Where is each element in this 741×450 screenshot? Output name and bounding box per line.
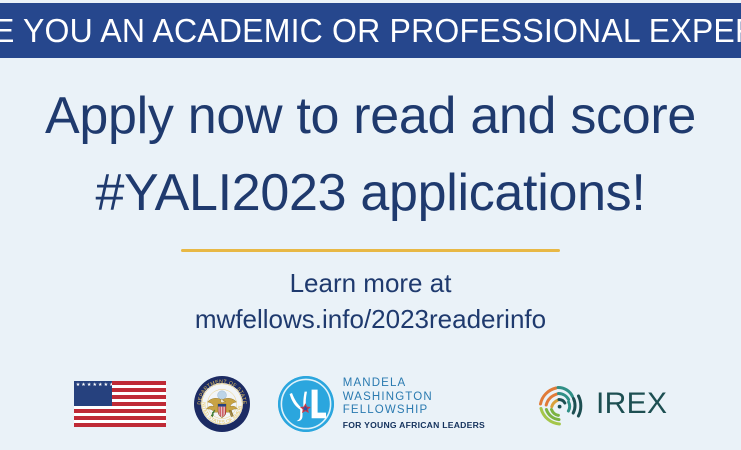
flag-stars: ★★★★★★★★★★★★★★★★★★★★★★★★★★★★★★★★★★★★★★★★… xyxy=(74,381,112,406)
learn-more-url: mwfellows.info/2023readerinfo xyxy=(0,301,741,337)
irex-lockup: IREX xyxy=(535,379,667,429)
irex-mark-icon xyxy=(535,379,589,429)
mandela-washington-fellowship-lockup: MANDELA WASHINGTON FELLOWSHIP FOR YOUNG … xyxy=(278,376,485,432)
page-title: Apply now to read and score #YALI2023 ap… xyxy=(0,78,741,232)
learn-more-block: Learn more at mwfellows.info/2023readeri… xyxy=(0,265,741,337)
logo-row: ★★★★★★★★★★★★★★★★★★★★★★★★★★★★★★★★★★★★★★★★… xyxy=(0,370,741,438)
banner: ARE YOU AN ACADEMIC OR PROFESSIONAL EXPE… xyxy=(0,3,741,58)
mwf-tagline: FOR YOUNG AFRICAN LEADERS xyxy=(343,419,485,431)
us-department-of-state-seal-icon: DEPARTMENT OF STATE UNITED STATES OF AME… xyxy=(194,376,250,432)
mandela-washington-fellowship-text: MANDELA WASHINGTON FELLOWSHIP FOR YOUNG … xyxy=(343,377,485,431)
headline-line-1: Apply now to read and score xyxy=(0,78,741,155)
learn-more-label: Learn more at xyxy=(0,265,741,301)
yali-logo-icon xyxy=(278,376,334,432)
divider xyxy=(181,249,560,252)
poster: ARE YOU AN ACADEMIC OR PROFESSIONAL EXPE… xyxy=(0,0,741,450)
us-flag-icon: ★★★★★★★★★★★★★★★★★★★★★★★★★★★★★★★★★★★★★★★★… xyxy=(74,381,166,427)
mwf-line-1: MANDELA xyxy=(343,377,485,390)
mwf-line-2: WASHINGTON xyxy=(343,391,485,404)
mwf-line-3: FELLOWSHIP xyxy=(343,404,485,417)
headline-line-2: #YALI2023 applications! xyxy=(0,155,741,232)
banner-text: ARE YOU AN ACADEMIC OR PROFESSIONAL EXPE… xyxy=(0,14,741,47)
irex-wordmark: IREX xyxy=(596,389,667,419)
